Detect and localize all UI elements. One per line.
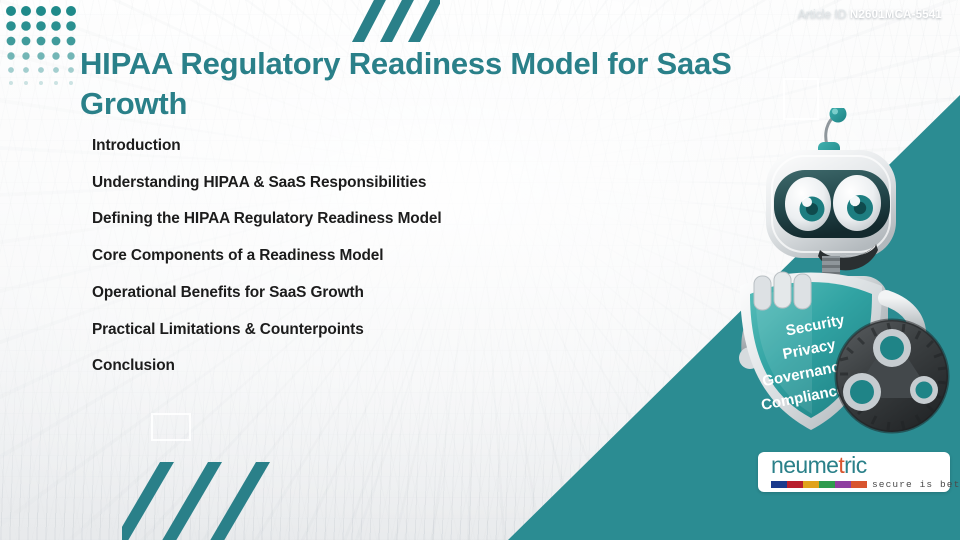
logo-bottom-row: secure is better [771,479,960,490]
article-id-value: N2601MCA-5541 [850,9,942,21]
presentation-slide: Article ID N2601MCA-5541 HIPAA Regulator… [0,0,960,540]
diagonal-stripes-top [330,0,440,42]
diagonal-stripes-bottom-left [122,452,272,540]
agenda-item-introduction: Introduction [92,138,612,153]
dot-grid-decoration [4,4,80,90]
article-id: Article ID N2601MCA-5541 [798,9,942,21]
robot-mascot-illustration: Security Privacy Governance Compliance [726,108,960,438]
agenda-item-understanding-hipaa-saas-responsibilities: Understanding HIPAA & SaaS Responsibilit… [92,175,612,190]
logo-color-bars [771,481,867,488]
slide-title: HIPAA Regulatory Readiness Model for Saa… [80,44,810,125]
logo-wordmark: neumetric [771,454,960,477]
agenda-item-defining-the-model: Defining the HIPAA Regulatory Readiness … [92,211,612,226]
agenda-item-core-components: Core Components of a Readiness Model [92,248,612,263]
robot-hand-fingers [754,272,811,310]
robot-wheel [836,320,948,432]
logo-text-block: neumetric secure is better [771,454,960,490]
article-id-label: Article ID [798,9,847,21]
ghost-square-outline-bottom [151,413,191,441]
robot-head [766,150,896,270]
logo-wordmark-part1: neume [771,452,838,478]
neumetric-logo: neumetric secure is better [758,452,950,492]
logo-wordmark-part2: ric [844,452,866,478]
agenda-item-operational-benefits: Operational Benefits for SaaS Growth [92,285,612,300]
agenda-item-practical-limitations: Practical Limitations & Counterpoints [92,322,612,337]
logo-tagline: secure is better [872,479,960,490]
agenda-list: Introduction Understanding HIPAA & SaaS … [92,138,612,395]
agenda-item-conclusion: Conclusion [92,358,612,373]
